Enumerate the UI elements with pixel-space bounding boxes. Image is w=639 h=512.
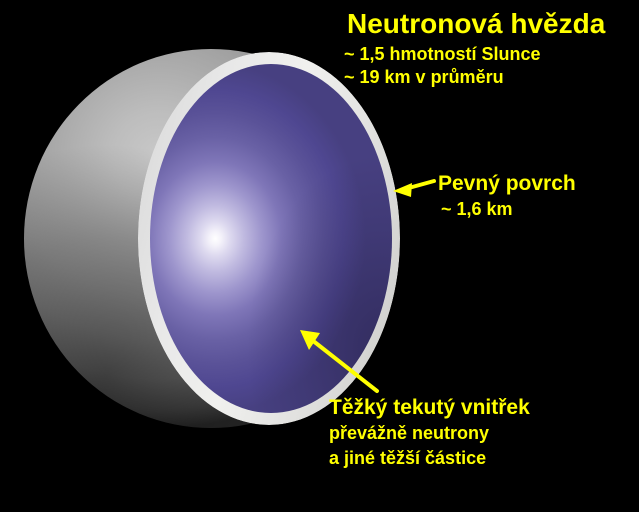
liquid-core-shading <box>150 64 392 413</box>
surface-callout-value: ~ 1,6 km <box>441 199 513 220</box>
diameter-spec-text: ~ 19 km v průměru <box>344 67 504 88</box>
page-title: Neutronová hvězda <box>347 9 605 39</box>
mass-spec-text: ~ 1,5 hmotností Slunce <box>344 44 541 65</box>
interior-callout-line2: převážně neutrony <box>329 423 489 444</box>
neutron-star-slide: Neutronová hvězda ~ 1,5 hmotností Slunce… <box>0 0 639 512</box>
surface-callout-title: Pevný povrch <box>438 172 576 196</box>
interior-callout-line3: a jiné těžší částice <box>329 448 486 469</box>
interior-callout-title: Těžký tekutý vnitřek <box>329 396 530 420</box>
